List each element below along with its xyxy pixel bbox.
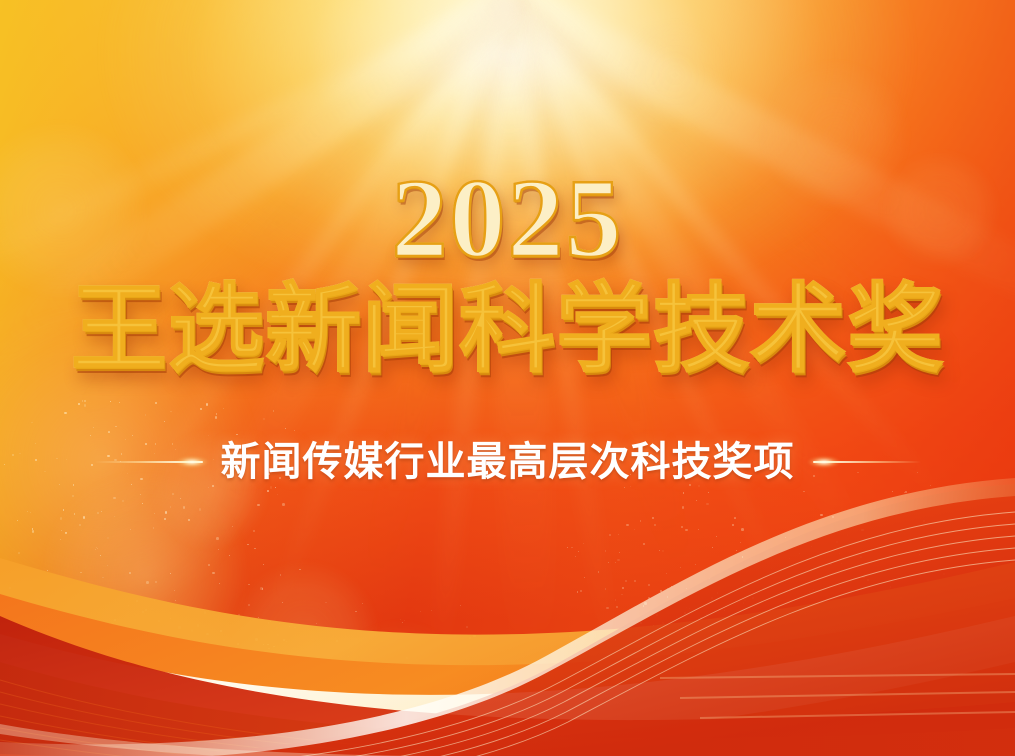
page-title: 王选新闻科学技术奖 — [0, 280, 1015, 380]
poster-content: 2025 王选新闻科学技术奖 新闻传媒行业最高层次科技奖项 — [0, 0, 1015, 756]
light-flare-left-icon — [95, 454, 203, 470]
light-flare-right-icon — [813, 454, 921, 470]
year-heading: 2025 — [0, 163, 1015, 275]
main-title-text: 王选新闻科学技术奖 — [69, 273, 946, 385]
subtitle-text: 新闻传媒行业最高层次科技奖项 — [221, 438, 795, 486]
year-text: 2025 — [392, 157, 624, 281]
award-poster: 2025 王选新闻科学技术奖 新闻传媒行业最高层次科技奖项 — [0, 0, 1015, 756]
subtitle-row: 新闻传媒行业最高层次科技奖项 — [0, 438, 1015, 486]
